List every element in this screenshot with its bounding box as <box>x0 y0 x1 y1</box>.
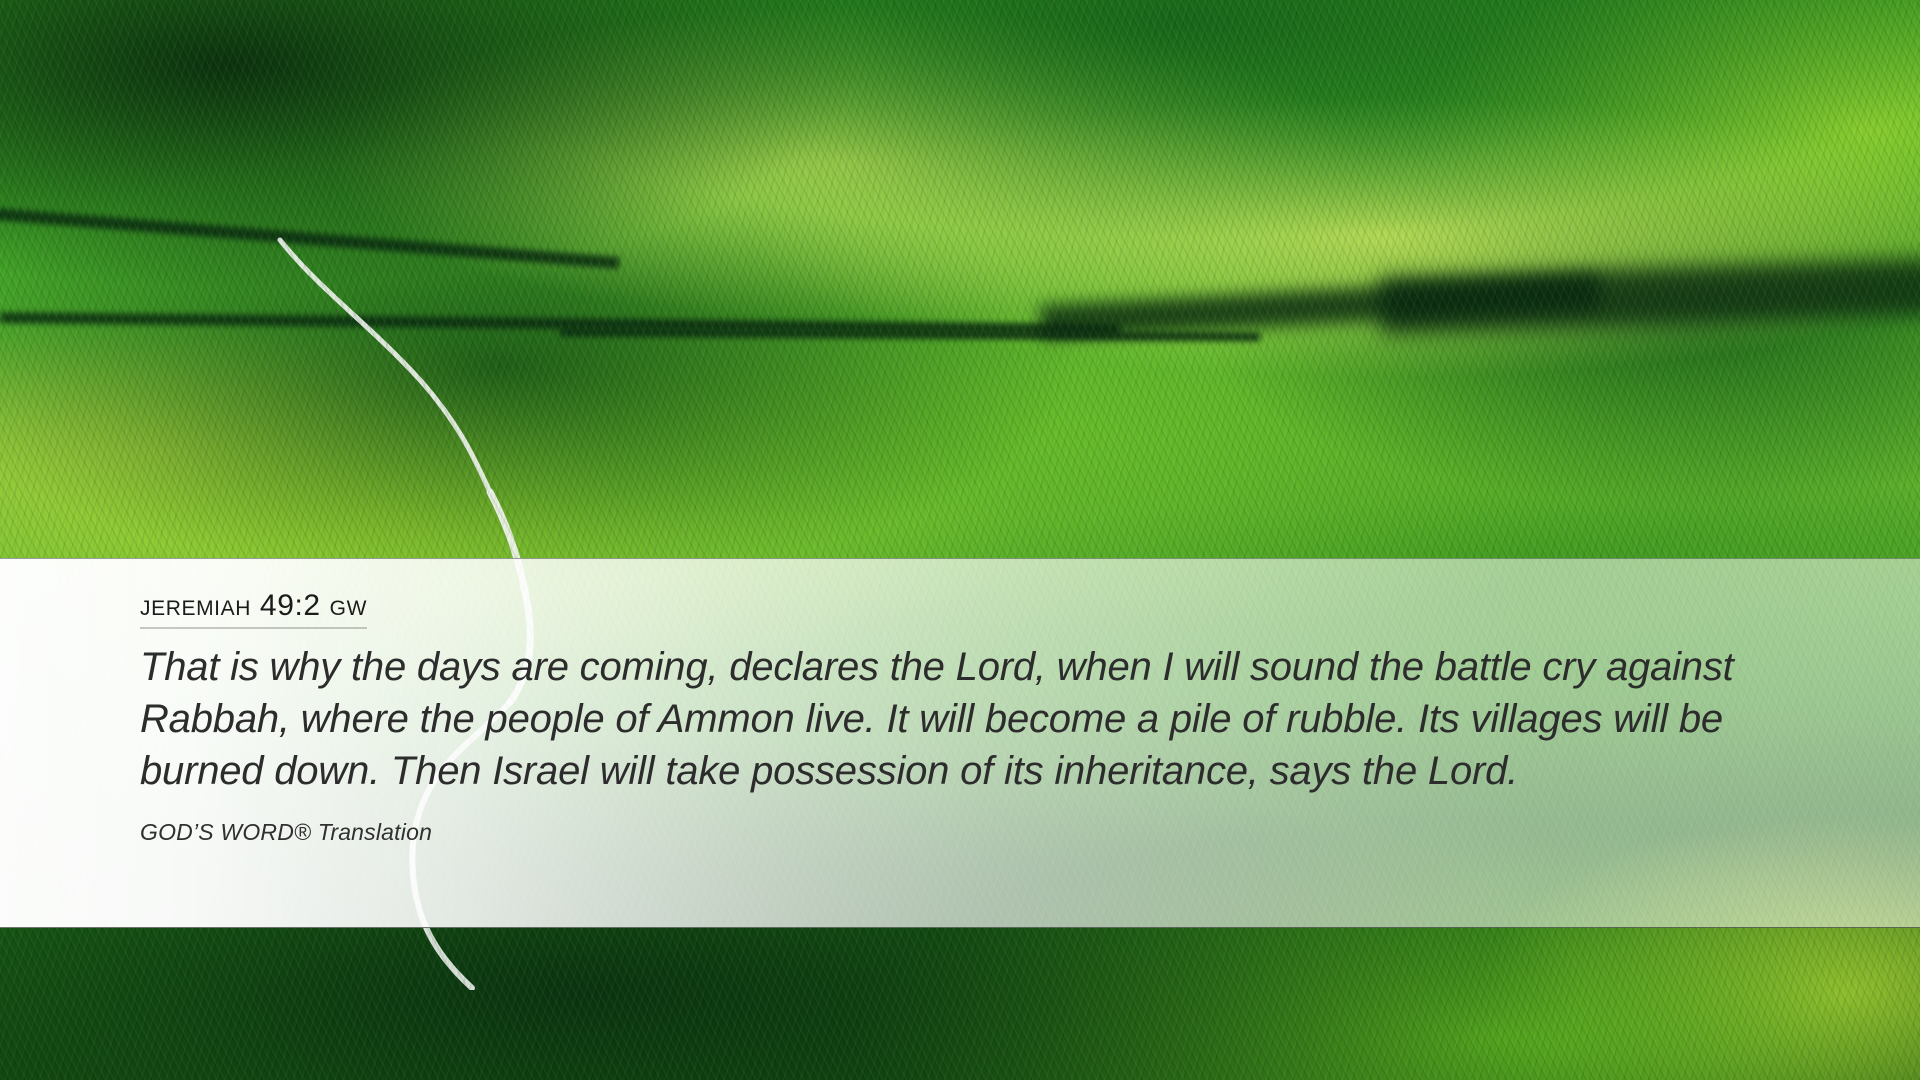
wallpaper-canvas: Jeremiah 49:2 GW That is why the days ar… <box>0 0 1920 1080</box>
verse-text: That is why the days are coming, declare… <box>140 641 1820 797</box>
verse-overlay-panel: Jeremiah 49:2 GW That is why the days ar… <box>0 558 1920 928</box>
verse-reference: Jeremiah 49:2 GW <box>140 591 367 629</box>
verse-attribution: GOD’S WORD® Translation <box>140 819 1920 846</box>
